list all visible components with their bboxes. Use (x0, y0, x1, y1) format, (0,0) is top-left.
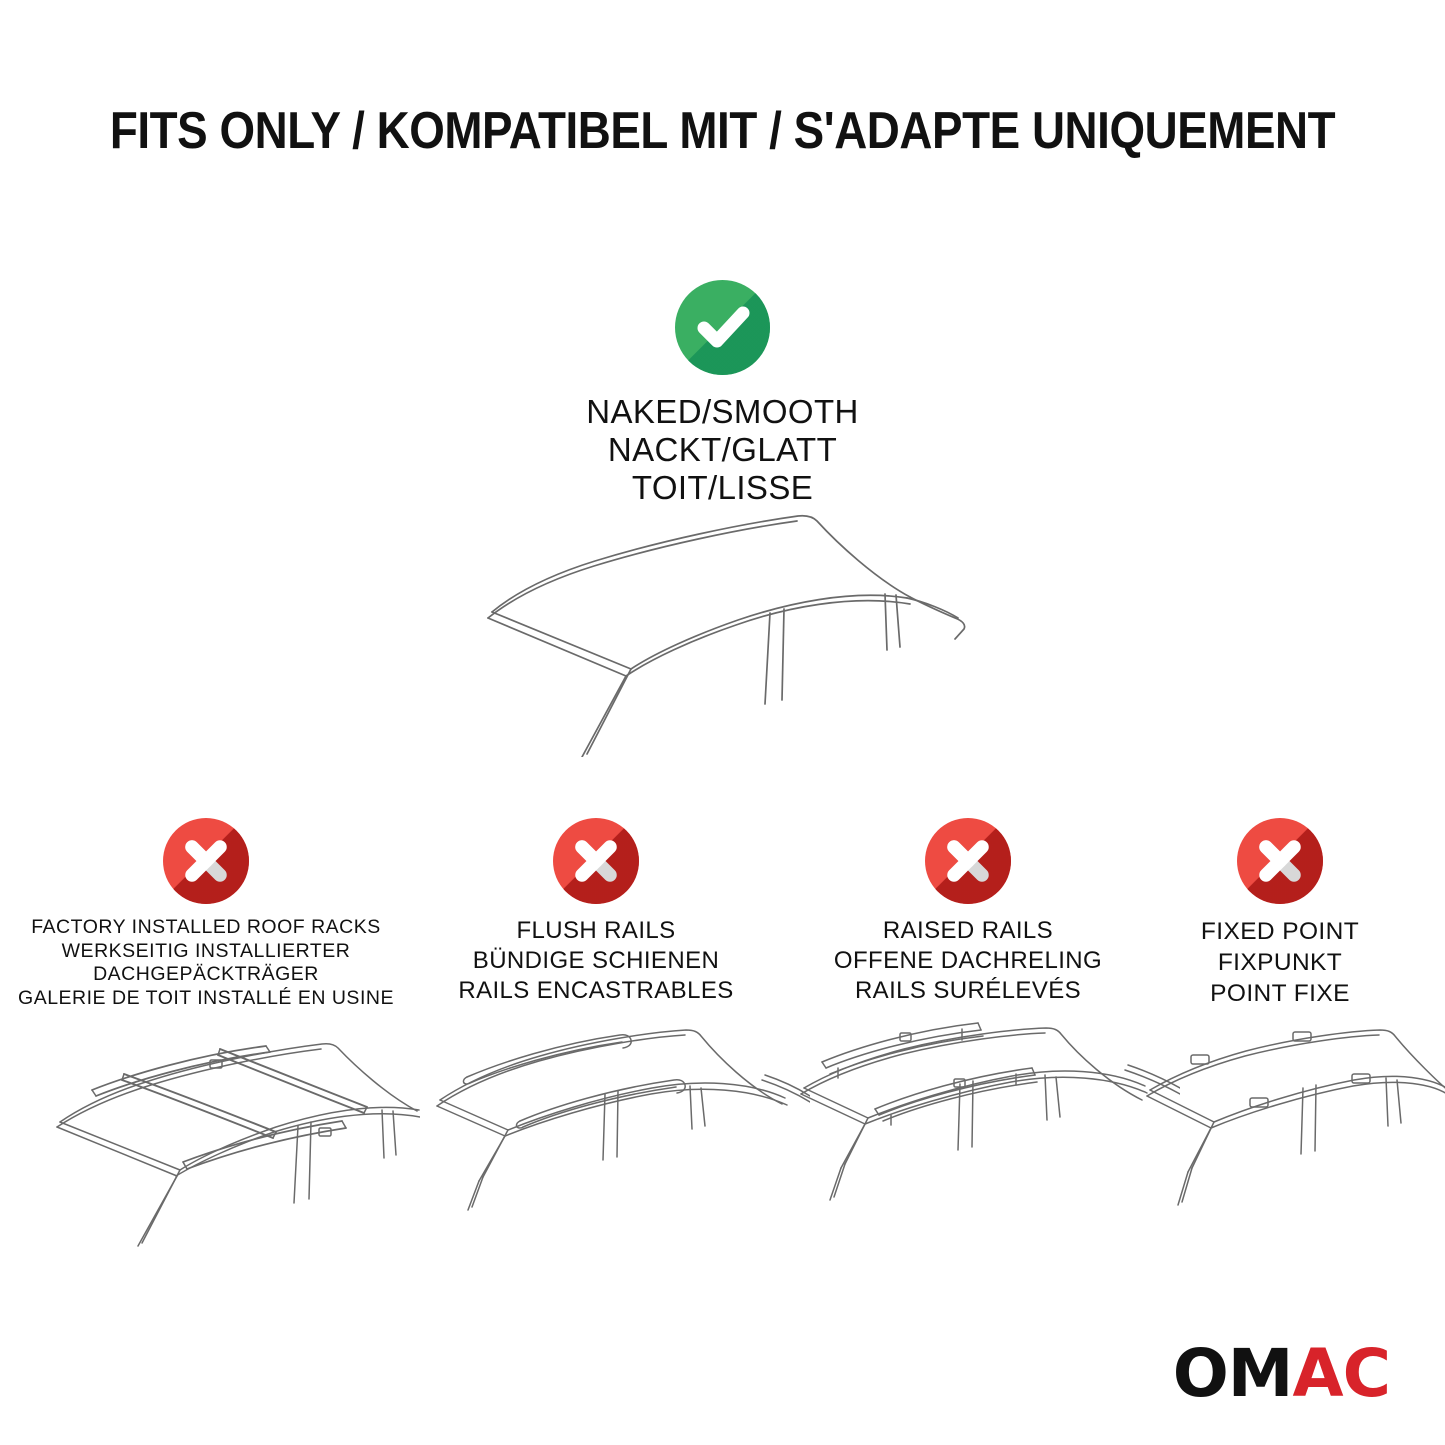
x-circle-icon (163, 818, 249, 904)
label-line-3: RAILS SURÉLEVÉS (780, 976, 1156, 1006)
incompatible-item-raised-rails: RAISED RAILS OFFENE DACHRELING RAILS SUR… (780, 818, 1156, 1006)
compatibility-infographic: FITS ONLY / KOMPATIBEL MIT / S'ADAPTE UN… (0, 0, 1445, 1445)
label-line-3: POINT FIXE (1135, 978, 1425, 1009)
x-circle-icon (925, 818, 1011, 904)
check-circle-icon-wrap (675, 280, 770, 375)
car-roof-factory-rack-illustration (30, 1022, 420, 1247)
incompatible-labels: FIXED POINT FIXPUNKT POINT FIXE (1135, 916, 1425, 1009)
compatible-label-de: NACKT/GLATT (0, 431, 1445, 469)
page-title: FITS ONLY / KOMPATIBEL MIT / S'ADAPTE UN… (87, 103, 1359, 159)
x-circle-icon (553, 818, 639, 904)
incompatible-item-factory-installed-roof-racks: FACTORY INSTALLED ROOF RACKS WERKSEITIG … (18, 818, 394, 1010)
logo-text-ac: AC (1292, 1335, 1390, 1412)
label-line-3: RAILS ENCASTRABLES (408, 976, 784, 1006)
car-roof-fixed-point-illustration (1140, 1022, 1445, 1247)
label-line-1: RAISED RAILS (780, 916, 1156, 946)
omac-logo: OMAC (1173, 1341, 1390, 1407)
logo-text-om: OM (1173, 1335, 1293, 1412)
car-roof-naked-smooth-illustration (455, 492, 1000, 757)
car-roof-flush-rails-illustration (420, 1022, 810, 1247)
label-line-3: DACHGEPÄCKTRÄGER (18, 963, 394, 987)
car-roof-raised-rails-illustration (790, 1022, 1180, 1247)
label-line-2: FIXPUNKT (1135, 947, 1425, 978)
label-line-2: WERKSEITIG INSTALLIERTER (18, 940, 394, 964)
incompatible-labels: RAISED RAILS OFFENE DACHRELING RAILS SUR… (780, 916, 1156, 1006)
label-line-4: GALERIE DE TOIT INSTALLÉ EN USINE (18, 987, 394, 1011)
compatible-label-en: NAKED/SMOOTH (0, 393, 1445, 431)
incompatible-item-flush-rails: FLUSH RAILS BÜNDIGE SCHIENEN RAILS ENCAS… (408, 818, 784, 1006)
compatible-labels: NAKED/SMOOTH NACKT/GLATT TOIT/LISSE (0, 393, 1445, 507)
check-circle-icon (675, 280, 770, 375)
compatible-section: NAKED/SMOOTH NACKT/GLATT TOIT/LISSE (0, 280, 1445, 507)
incompatible-item-fixed-point: FIXED POINT FIXPUNKT POINT FIXE (1135, 818, 1425, 1009)
label-line-1: FIXED POINT (1135, 916, 1425, 947)
incompatible-labels: FACTORY INSTALLED ROOF RACKS WERKSEITIG … (18, 916, 394, 1010)
x-circle-icon (1237, 818, 1323, 904)
label-line-2: BÜNDIGE SCHIENEN (408, 946, 784, 976)
label-line-1: FACTORY INSTALLED ROOF RACKS (18, 916, 394, 940)
incompatible-labels: FLUSH RAILS BÜNDIGE SCHIENEN RAILS ENCAS… (408, 916, 784, 1006)
label-line-1: FLUSH RAILS (408, 916, 784, 946)
label-line-2: OFFENE DACHRELING (780, 946, 1156, 976)
